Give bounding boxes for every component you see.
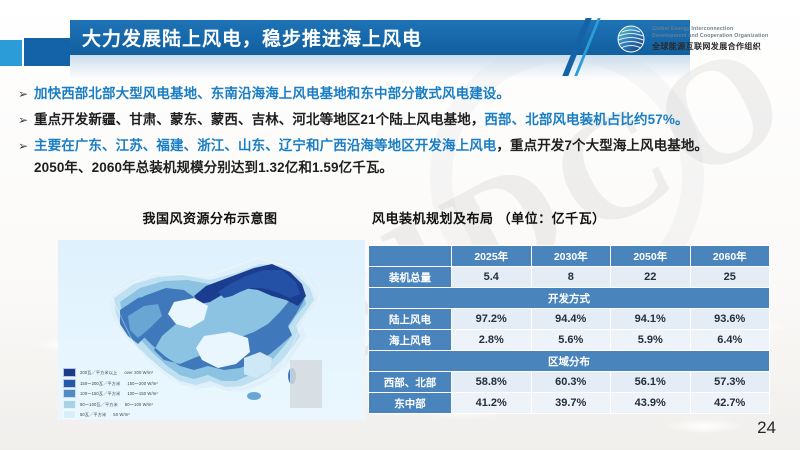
bullet-segment-highlight: 主要在广东、江苏、福建、浙江、山东、辽宁和广西沿海等地区开发海上风电 [34, 138, 496, 153]
bullet-text: 加快西部北部大型风电基地、东南沿海海上风电基地和东中部分散式风电建设。 [34, 84, 510, 103]
legend-item: 200瓦／平方米以上 over 200 W/m² [63, 368, 213, 377]
table-row-header: 西部、北部 [369, 372, 452, 393]
slide-canvas: GEIDCO 大力发展陆上风电，稳步推进海上风电 [0, 0, 800, 450]
map-title: 我国风资源分布示意图 [60, 208, 360, 227]
wind-resource-map: 200瓦／平方米以上 over 200 W/m² 150～200瓦／平方米 15… [58, 240, 365, 420]
table-col-header: 2050年 [611, 246, 691, 267]
map-legend: 200瓦／平方米以上 over 200 W/m² 150～200瓦／平方米 15… [63, 368, 213, 420]
legend-item: 150～200瓦／平方米 150～200 W/m² [63, 379, 213, 388]
table-row: 东中部 41.2% 39.7% 43.9% 42.7% [369, 393, 770, 414]
slide-header: 大力发展陆上风电，稳步推进海上风电 [0, 0, 800, 78]
bullet-item: ➢ 重点开发新疆、甘肃、蒙东、蒙西、吉林、河北等地区21个陆上风电基地，西部、北… [18, 110, 786, 129]
table-row: 陆上风电 97.2% 94.4% 94.1% 93.6% [369, 309, 770, 330]
table-cell: 25 [690, 267, 770, 288]
bullet-segment: 重点开发新疆、甘肃、蒙东、蒙西、吉林、河北等地区21个陆上风电基地， [34, 112, 484, 127]
legend-label-cn: 200瓦／平方米以上 [80, 369, 117, 376]
table-section-row: 开发方式 [369, 288, 770, 309]
table-title: 风电装机规划及布局 （单位：亿千瓦） [372, 208, 772, 227]
legend-swatch [63, 389, 76, 398]
legend-label-en: 100～150 W/m² [127, 390, 158, 397]
table-cell: 94.4% [531, 309, 611, 330]
table-row: 装机总量 5.4 8 22 25 [369, 267, 770, 288]
bullet-marker-icon: ➢ [18, 110, 34, 129]
table-cell: 58.8% [452, 372, 532, 393]
legend-label-cn: 150～200瓦／平方米 [80, 380, 120, 387]
table-header-row: 2025年 2030年 2050年 2060年 [369, 246, 770, 267]
table-row-header: 东中部 [369, 393, 452, 414]
map-inset-box [290, 360, 322, 408]
table-row-header: 陆上风电 [369, 309, 452, 330]
legend-item: 100～150瓦／平方米 100～150 W/m² [63, 389, 213, 398]
header-square-accent-dark [24, 38, 70, 66]
legend-swatch [63, 368, 76, 377]
legend-label-cn: 50～100瓦／平方米 [80, 401, 118, 408]
table-col-header: 2025年 [452, 246, 532, 267]
legend-swatch [63, 410, 76, 419]
legend-label-en: over 200 W/m² [124, 369, 153, 376]
logo-text-block: Global Energy Interconnection Developmen… [652, 26, 768, 52]
table-row: 海上风电 2.8% 5.6% 5.9% 6.4% [369, 330, 770, 351]
bullet-segment: 加快西部北部大型风电基地、东南沿海海上风电基地和东中部分散式风电建设。 [34, 86, 510, 101]
globe-logo-icon [616, 24, 646, 54]
table-row: 西部、北部 58.8% 60.3% 56.1% 57.3% [369, 372, 770, 393]
table-cell: 39.7% [531, 393, 611, 414]
logo-chinese-name: 全球能源互联网发展合作组织 [652, 41, 768, 52]
bullet-item: ➢ 主要在广东、江苏、福建、浙江、山东、辽宁和广西沿海等地区开发海上风电，重点开… [18, 136, 786, 177]
table-cell: 93.6% [690, 309, 770, 330]
table-cell: 60.3% [531, 372, 611, 393]
bullet-text: 重点开发新疆、甘肃、蒙东、蒙西、吉林、河北等地区21个陆上风电基地，西部、北部风… [34, 110, 689, 129]
table-cell: 57.3% [690, 372, 770, 393]
legend-label-cn: 50瓦／平方米 [80, 411, 106, 418]
legend-label-cn: 100～150瓦／平方米 [80, 390, 120, 397]
table-cell: 41.2% [452, 393, 532, 414]
bullet-marker-icon: ➢ [18, 136, 34, 155]
header-square-accent-light [0, 40, 22, 66]
bullet-item: ➢ 加快西部北部大型风电基地、东南沿海海上风电基地和东中部分散式风电建设。 [18, 84, 786, 103]
table-cell: 42.7% [690, 393, 770, 414]
bullet-text: 主要在广东、江苏、福建、浙江、山东、辽宁和广西沿海等地区开发海上风电，重点开发7… [34, 136, 708, 177]
legend-item: 50瓦／平方米 50 W/m² [63, 410, 213, 419]
legend-label-en: 150～200 W/m² [127, 380, 158, 387]
table-section-label: 开发方式 [369, 288, 770, 309]
legend-swatch [63, 400, 76, 409]
table-row-header: 装机总量 [369, 267, 452, 288]
table-cell: 6.4% [690, 330, 770, 351]
bullet-list: ➢ 加快西部北部大型风电基地、东南沿海海上风电基地和东中部分散式风电建设。 ➢ … [18, 84, 786, 184]
table-cell: 56.1% [611, 372, 691, 393]
page-number: 24 [757, 418, 776, 438]
table-cell: 43.9% [611, 393, 691, 414]
legend-item: 50～100瓦／平方米 50～100 W/m² [63, 400, 213, 409]
page-title: 大力发展陆上风电，稳步推进海上风电 [82, 24, 642, 51]
table-cell: 5.6% [531, 330, 611, 351]
table-row-header: 海上风电 [369, 330, 452, 351]
organization-logo: Global Energy Interconnection Developmen… [616, 16, 794, 62]
logo-english-line-2: Development and Cooperation Organization [652, 33, 768, 40]
table-cell: 5.9% [611, 330, 691, 351]
table-corner-cell [369, 246, 452, 267]
table-section-label: 区域分布 [369, 351, 770, 372]
table-col-header: 2060年 [690, 246, 770, 267]
table-cell: 2.8% [452, 330, 532, 351]
legend-label-en: 50～100 W/m² [125, 401, 153, 408]
table-cell: 5.4 [452, 267, 532, 288]
title-bar-shadow [70, 55, 690, 79]
legend-label-en: 50 W/m² [113, 411, 130, 418]
bullet-segment-highlight: 西部、北部风电装机占比约57%。 [484, 112, 688, 127]
bullet-marker-icon: ➢ [18, 84, 34, 103]
bullet-second-line: 2050年、2060年总装机规模分别达到1.32亿和1.59亿千瓦。 [34, 158, 708, 177]
table-cell: 8 [531, 267, 611, 288]
logo-english-line-1: Global Energy Interconnection [652, 26, 768, 33]
bullet-segment: ，重点开发7个大型海上风电基地。 [496, 138, 708, 153]
table-cell: 94.1% [611, 309, 691, 330]
wind-capacity-table: 2025年 2030年 2050年 2060年 装机总量 5.4 8 22 25… [368, 245, 770, 414]
table-cell: 97.2% [452, 309, 532, 330]
table-section-row: 区域分布 [369, 351, 770, 372]
legend-swatch [63, 379, 76, 388]
table-cell: 22 [611, 267, 691, 288]
table-col-header: 2030年 [531, 246, 611, 267]
